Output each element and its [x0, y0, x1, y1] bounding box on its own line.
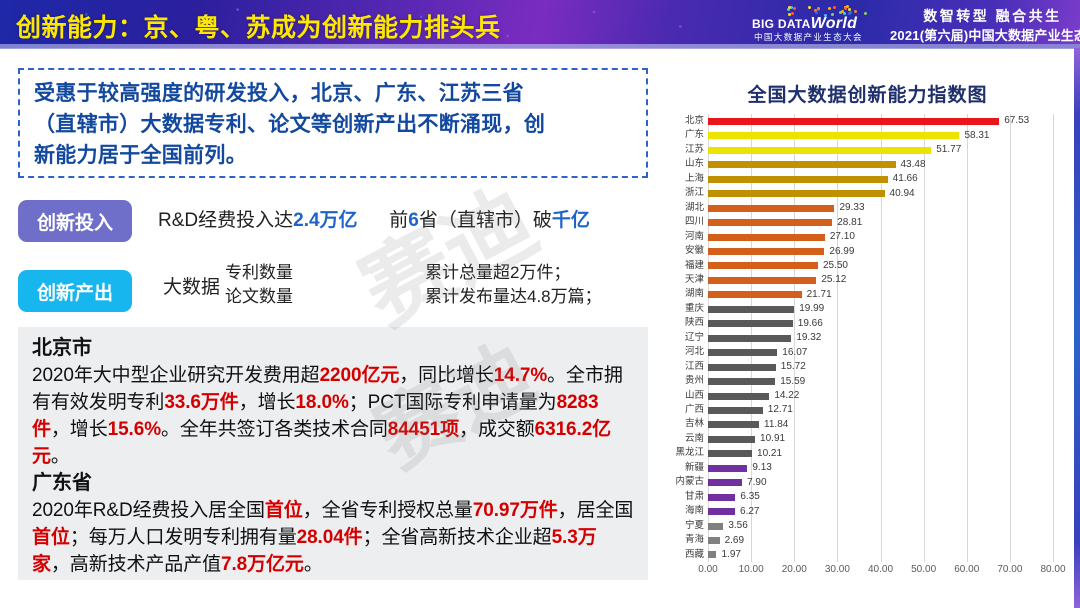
chart-bar-row[interactable]: 北京67.53 [708, 114, 1053, 129]
chart-bar [708, 450, 752, 457]
chart-category-label: 甘肃 [685, 490, 704, 505]
chart-bar-row[interactable]: 山西14.22 [708, 389, 1053, 404]
province-heading-beijing: 北京市 [32, 335, 634, 362]
chart-value-label: 7.90 [747, 478, 766, 488]
chart-bar-row[interactable]: 海南6.27 [708, 504, 1053, 519]
chart-category-label: 辽宁 [685, 331, 704, 346]
top-banner: 创新能力：京、粤、苏成为创新能力排头兵 BIG DATAWorld 中国大数据产… [0, 0, 1080, 48]
output-values: 累计总量超2万件； 累计发布量达4.8万篇； [425, 261, 602, 309]
chart-bar-row[interactable]: 上海41.66 [708, 172, 1053, 187]
chart-bar [708, 364, 776, 371]
chart-category-label: 云南 [685, 432, 704, 447]
chart-value-label: 21.71 [807, 290, 832, 300]
chart-category-label: 湖南 [685, 287, 704, 302]
summary-line-3: 新能力居于全国前列。 [34, 140, 632, 171]
top6-mid: 省（直辖市）破 [419, 210, 552, 231]
page-title: 创新能力：京、粤、苏成为创新能力排头兵 [16, 8, 501, 44]
province-details-panel: 北京市 2020年大中型企业研究开发费用超2200亿元，同比增长14.7%。全市… [18, 327, 648, 580]
chart-value-label: 43.48 [901, 160, 926, 170]
badge-innovation-output: 创新产出 [18, 270, 132, 312]
chart-value-label: 25.12 [821, 275, 846, 285]
chart-bar [708, 277, 816, 284]
chart-bar [708, 132, 959, 139]
chart-bar [708, 219, 832, 226]
chart-bar [708, 190, 885, 197]
chart-bar [708, 234, 825, 241]
chart-bar [708, 494, 735, 501]
logo-world-text: World [811, 15, 858, 32]
chart-value-label: 1.97 [721, 550, 740, 560]
chart-x-tick: 30.00 [825, 564, 850, 575]
chart-bar-row[interactable]: 福建25.50 [708, 259, 1053, 274]
output-categories: 专利数量 论文数量 [225, 261, 293, 309]
rd-funding-label: R&D经费投入达 [158, 210, 293, 231]
chart-bar-row[interactable]: 甘肃6.35 [708, 490, 1053, 505]
chart-value-label: 41.66 [893, 174, 918, 184]
chart-value-label: 9.13 [752, 463, 771, 473]
top6-count: 6 [408, 210, 419, 231]
logo-subtitle: 中国大数据产业生态大会 [754, 31, 863, 43]
chart-value-label: 28.81 [837, 218, 862, 228]
chart-bar [708, 320, 793, 327]
chart-value-label: 67.53 [1004, 116, 1029, 126]
chart-category-label: 山东 [685, 157, 704, 172]
chart-value-label: 26.99 [829, 247, 854, 257]
summary-callout: 受惠于较高强度的研发投入，北京、广东、江苏三省 （直辖市）大数据专利、论文等创新… [18, 68, 648, 178]
chart-category-label: 河北 [685, 345, 704, 360]
conference-name: 2021(第六届)中国大数据产业生态大会 [890, 25, 1080, 44]
chart-bar [708, 118, 999, 125]
chart-title: 全国大数据创新能力指数图 [660, 80, 1075, 107]
chart-category-label: 宁夏 [685, 519, 704, 534]
chart-value-label: 19.99 [799, 304, 824, 314]
chart-value-label: 2.69 [725, 536, 744, 546]
chart-category-label: 青海 [685, 533, 704, 548]
chart-value-label: 10.91 [760, 434, 785, 444]
chart-bar [708, 436, 755, 443]
chart-bar-row[interactable]: 江苏51.77 [708, 143, 1053, 158]
chart-category-label: 黑龙江 [675, 446, 704, 461]
conference-slogan: 数智转型 融合共生 [905, 6, 1080, 26]
chart-value-label: 14.22 [774, 391, 799, 401]
chart-bar-row[interactable]: 河北16.07 [708, 345, 1053, 360]
chart-bar [708, 465, 747, 472]
chart-value-label: 40.94 [890, 189, 915, 199]
province-heading-guangdong: 广东省 [32, 470, 634, 497]
chart-bar-row[interactable]: 陕西19.66 [708, 316, 1053, 331]
chart-value-label: 29.33 [839, 203, 864, 213]
chart-bar-row[interactable]: 贵州15.59 [708, 374, 1053, 389]
chart-value-label: 27.10 [830, 232, 855, 242]
chart-bar-row[interactable]: 重庆19.99 [708, 302, 1053, 317]
chart-x-tick: 60.00 [954, 564, 979, 575]
chart-x-tick: 10.00 [739, 564, 764, 575]
bigdata-label: 大数据 [163, 272, 220, 299]
chart-bar [708, 421, 759, 428]
chart-bar [708, 349, 777, 356]
chart-bar-row[interactable]: 吉林11.84 [708, 417, 1053, 432]
chart-x-axis: 0.0010.0020.0030.0040.0050.0060.0070.008… [708, 564, 1053, 582]
chart-bar [708, 537, 720, 544]
chart-value-label: 11.84 [764, 420, 788, 430]
logo-bigdata-text: BIG DATA [752, 17, 811, 31]
chart-category-label: 天津 [685, 273, 704, 288]
chart-bar [708, 378, 775, 385]
summary-line-1: 受惠于较高强度的研发投入，北京、广东、江苏三省 [34, 78, 632, 109]
chart-value-label: 19.32 [796, 333, 821, 343]
chart-category-label: 吉林 [685, 417, 704, 432]
patent-count-label: 专利数量 [225, 261, 293, 285]
chart-x-tick: 20.00 [782, 564, 807, 575]
right-border-strip [1074, 48, 1080, 608]
chart-bar-row[interactable]: 四川28.81 [708, 215, 1053, 230]
chart-value-label: 3.56 [728, 521, 747, 531]
chart-bar-row[interactable]: 广东58.31 [708, 128, 1053, 143]
chart-bar-row[interactable]: 安徽26.99 [708, 244, 1053, 259]
chart-bar [708, 523, 723, 530]
chart-bar-row[interactable]: 河南27.10 [708, 230, 1053, 245]
chart-bar [708, 161, 896, 168]
province-paragraph-guangdong: 2020年R&D经费投入居全国首位，全省专利授权总量70.97万件，居全国首位；… [32, 497, 634, 578]
chart-bar [708, 335, 791, 342]
chart-value-label: 6.27 [740, 507, 759, 517]
chart-bar-rows: 北京67.53广东58.31江苏51.77山东43.48上海41.66浙江40.… [708, 114, 1053, 562]
patent-total-value: 累计总量超2万件； [425, 261, 602, 285]
banner-underline [0, 44, 1080, 49]
chart-bar [708, 176, 888, 183]
chart-bar-row[interactable]: 广西12.71 [708, 403, 1053, 418]
bigdata-world-logo: BIG DATAWorld 中国大数据产业生态大会 [752, 2, 902, 46]
chart-bar-row[interactable]: 浙江40.94 [708, 186, 1053, 201]
chart-value-label: 51.77 [936, 145, 961, 155]
innovation-investment-text: R&D经费投入达2.4万亿 前6省（直辖市）破千亿 [158, 205, 648, 232]
chart-category-label: 安徽 [685, 244, 704, 259]
badge-innovation-investment: 创新投入 [18, 200, 132, 242]
chart-bar [708, 205, 834, 212]
chart-bar [708, 147, 931, 154]
top6-threshold: 千亿 [552, 210, 590, 231]
chart-bar-row[interactable]: 湖北29.33 [708, 201, 1053, 216]
chart-category-label: 河南 [685, 230, 704, 245]
chart-bar-row[interactable]: 内蒙古7.90 [708, 475, 1053, 490]
paper-count-label: 论文数量 [225, 285, 293, 309]
chart-value-label: 19.66 [798, 319, 823, 329]
chart-value-label: 25.50 [823, 261, 848, 271]
innovation-index-chart: 全国大数据创新能力指数图 北京67.53广东58.31江苏51.77山东43.4… [660, 52, 1075, 608]
chart-value-label: 58.31 [964, 131, 989, 141]
paper-total-value: 累计发布量达4.8万篇； [425, 285, 602, 309]
chart-category-label: 西藏 [685, 548, 704, 563]
chart-value-label: 15.72 [781, 362, 806, 372]
chart-value-label: 10.21 [757, 449, 782, 459]
chart-bar-row[interactable]: 青海2.69 [708, 533, 1053, 548]
chart-bar-row[interactable]: 宁夏3.56 [708, 519, 1053, 534]
chart-category-label: 内蒙古 [675, 475, 704, 490]
chart-x-tick: 0.00 [698, 564, 717, 575]
chart-category-label: 贵州 [685, 374, 704, 389]
chart-bar-row[interactable]: 江西15.72 [708, 360, 1053, 375]
chart-category-label: 海南 [685, 504, 704, 519]
chart-plot-area: 北京67.53广东58.31江苏51.77山东43.48上海41.66浙江40.… [708, 114, 1053, 562]
chart-x-tick: 80.00 [1040, 564, 1065, 575]
chart-category-label: 重庆 [685, 302, 704, 317]
chart-bar [708, 248, 824, 255]
rd-funding-value: 2.4万亿 [293, 210, 357, 231]
chart-bar-row[interactable]: 黑龙江10.21 [708, 446, 1053, 461]
chart-bar [708, 551, 716, 558]
gridline [1053, 114, 1054, 562]
chart-bar-row[interactable]: 天津25.12 [708, 273, 1053, 288]
chart-x-tick: 50.00 [911, 564, 936, 575]
chart-x-tick: 40.00 [868, 564, 893, 575]
chart-value-label: 12.71 [768, 405, 793, 415]
province-paragraph-beijing: 2020年大中型企业研究开发费用超2200亿元，同比增长14.7%。全市拥有有效… [32, 362, 634, 470]
chart-category-label: 福建 [685, 259, 704, 274]
chart-value-label: 16.07 [782, 348, 807, 358]
chart-bar [708, 479, 742, 486]
chart-category-label: 浙江 [685, 186, 704, 201]
chart-value-label: 15.59 [780, 377, 805, 387]
watermark-ccid-1: 赛迪 [335, 150, 555, 349]
summary-line-2: （直辖市）大数据专利、论文等创新产出不断涌现，创 [34, 109, 632, 140]
chart-category-label: 湖北 [685, 201, 704, 216]
chart-category-label: 山西 [685, 389, 704, 404]
chart-category-label: 四川 [685, 215, 704, 230]
chart-bar [708, 306, 794, 313]
chart-bar [708, 291, 802, 298]
chart-bar-row[interactable]: 新疆9.13 [708, 461, 1053, 476]
chart-category-label: 广西 [685, 403, 704, 418]
chart-category-label: 陕西 [685, 316, 704, 331]
chart-bar [708, 508, 735, 515]
chart-value-label: 6.35 [740, 492, 759, 502]
chart-category-label: 江苏 [685, 143, 704, 158]
chart-category-label: 广东 [685, 128, 704, 143]
chart-category-label: 北京 [685, 114, 704, 129]
chart-bar [708, 262, 818, 269]
chart-bar [708, 407, 763, 414]
chart-bar-row[interactable]: 辽宁19.32 [708, 331, 1053, 346]
chart-bar [708, 393, 769, 400]
chart-category-label: 江西 [685, 360, 704, 375]
chart-x-tick: 70.00 [997, 564, 1022, 575]
chart-bar-row[interactable]: 湖南21.71 [708, 287, 1053, 302]
chart-category-label: 上海 [685, 172, 704, 187]
chart-bar-row[interactable]: 云南10.91 [708, 432, 1053, 447]
chart-bar-row[interactable]: 山东43.48 [708, 157, 1053, 172]
chart-category-label: 新疆 [685, 461, 704, 476]
chart-bar-row[interactable]: 西藏1.97 [708, 548, 1053, 563]
top6-label: 前 [389, 210, 408, 231]
